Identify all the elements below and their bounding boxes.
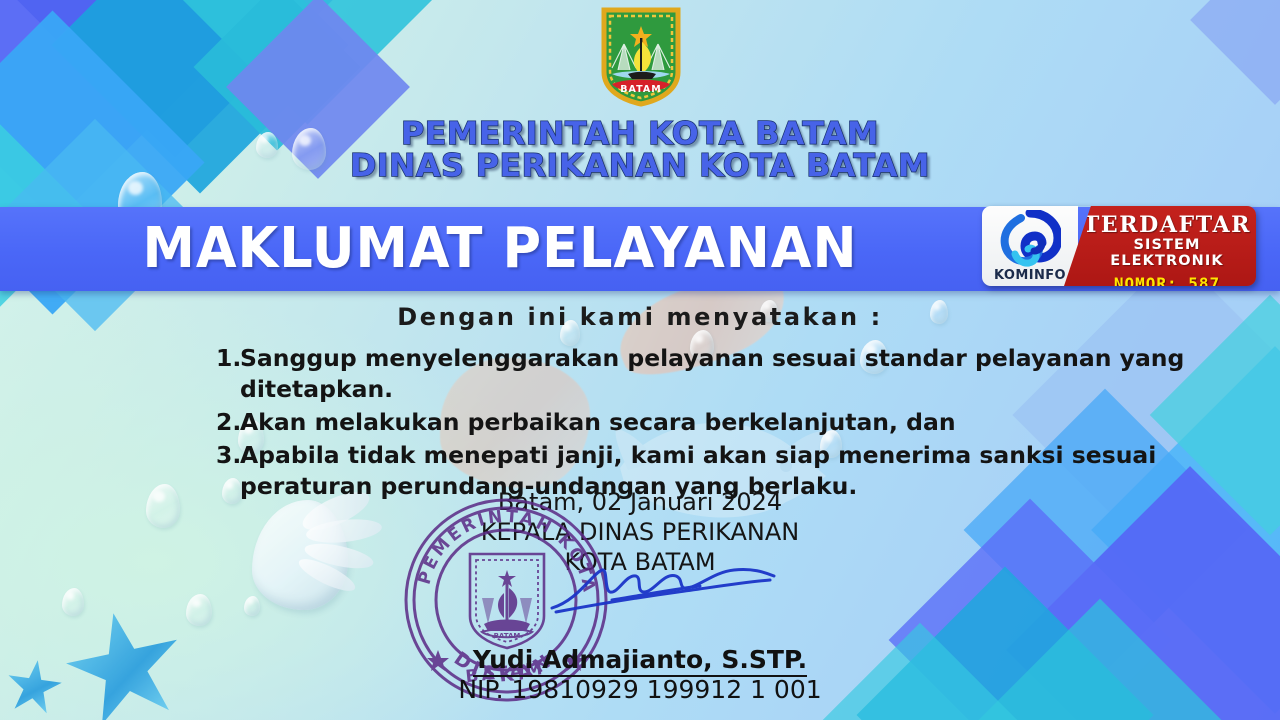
kominfo-logo-panel: KOMINFO	[982, 206, 1078, 286]
organization-line-1: PEMERINTAH KOTA BATAM	[0, 118, 1280, 150]
registration-text-panel: TERDAFTAR SISTEM ELEKTRONIK NOMOR: 587	[1064, 206, 1256, 286]
batam-coat-of-arms-icon: BATAM	[598, 4, 684, 108]
statement-heading: Dengan ini kami menyatakan :	[0, 303, 1280, 331]
clause-list: 1. Sanggup menyelenggarakan pelayanan se…	[216, 343, 1256, 504]
water-droplet	[186, 594, 212, 626]
svg-text:BATAM: BATAM	[620, 84, 661, 95]
maklumat-pelayanan-poster: BATAM PEMERINTAH KOTA BATAM DINAS PERIKA…	[0, 0, 1280, 720]
signer-name-text: Yudi Admajianto, S.STP.	[473, 645, 807, 677]
clause-item: 2. Akan melakukan perbaikan secara berke…	[216, 407, 1256, 438]
place-and-date: Batam, 02 Januari 2024	[0, 487, 1280, 517]
clause-text: Akan melakukan perbaikan secara berkelan…	[240, 407, 1256, 438]
kominfo-swirl-icon	[999, 210, 1061, 268]
registration-line-2: SISTEM ELEKTRONIK	[1078, 237, 1256, 269]
registration-line-1: TERDAFTAR	[1078, 212, 1256, 238]
signer-name: Yudi Admajianto, S.STP.	[0, 645, 1280, 674]
signer-nip: NIP. 19810929 199912 1 001	[0, 675, 1280, 704]
clause-number: 2.	[216, 407, 240, 438]
organization-line-2: DINAS PERIKANAN KOTA BATAM	[0, 150, 1280, 182]
registration-number: NOMOR: 587	[1078, 274, 1256, 286]
clause-number: 1.	[216, 343, 240, 405]
water-droplet	[244, 596, 260, 616]
svg-text:BATAM: BATAM	[494, 632, 521, 640]
handwritten-signature-icon	[548, 556, 778, 626]
clause-text: Sanggup menyelenggarakan pelayanan sesua…	[240, 343, 1256, 405]
signer-title-line-1: KEPALA DINAS PERIKANAN	[0, 517, 1280, 547]
kominfo-label: KOMINFO	[982, 268, 1078, 283]
kominfo-registration-badge: KOMINFO TERDAFTAR SISTEM ELEKTRONIK NOMO…	[982, 206, 1256, 286]
organization-heading: PEMERINTAH KOTA BATAM DINAS PERIKANAN KO…	[0, 118, 1280, 182]
poster-title: MAKLUMAT PELAYANAN	[30, 211, 970, 287]
clause-item: 1. Sanggup menyelenggarakan pelayanan se…	[216, 343, 1256, 405]
water-droplet	[62, 588, 84, 616]
